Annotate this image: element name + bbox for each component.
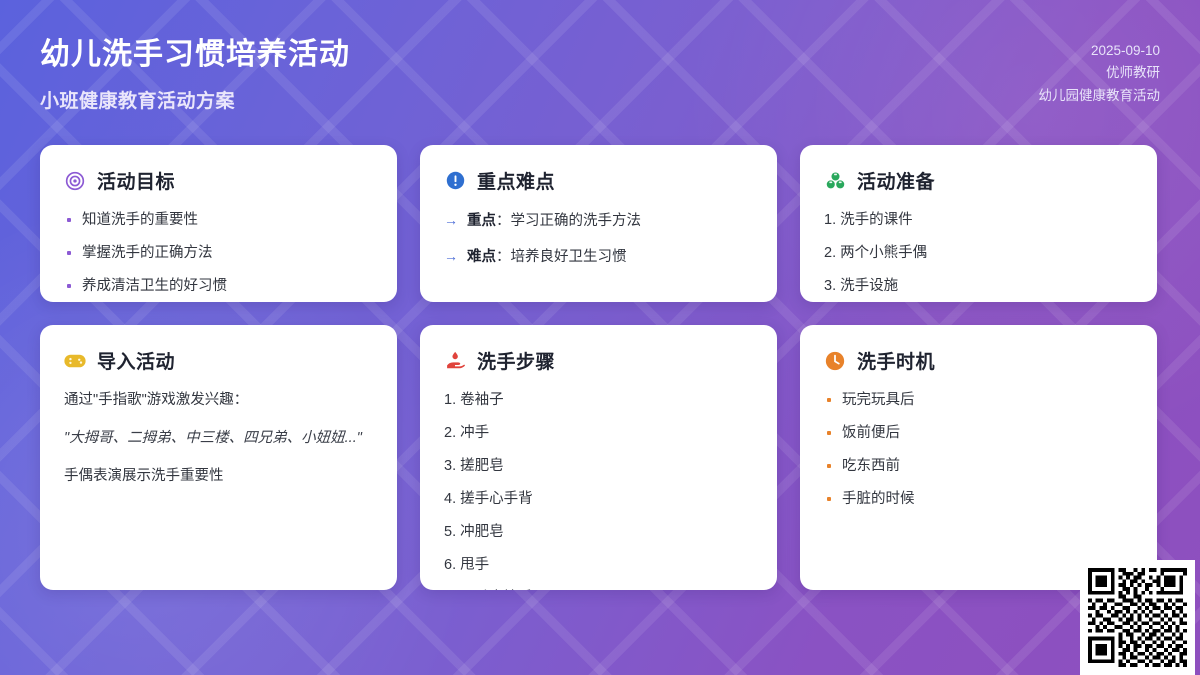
- list-item-value: 学习正确的洗手方法: [511, 213, 642, 229]
- list-item-label: 搓肥皂: [460, 458, 504, 474]
- list-item: 3. 洗手设施: [824, 276, 1133, 297]
- list-item-text: 重点：学习正确的洗手方法: [467, 211, 641, 232]
- list-item-number: 3.: [824, 278, 840, 294]
- list-item: 玩完玩具后: [824, 390, 1133, 411]
- card-title: 洗手时机: [857, 347, 935, 374]
- list-item: 4. 搓手心手背: [444, 489, 753, 510]
- card-header: 洗手步骤: [444, 347, 753, 374]
- header-meta: 2025-09-10 优师教研 幼儿园健康教育活动: [1039, 40, 1161, 107]
- card-header: 重点难点: [444, 167, 753, 194]
- list-item-label: 卷袖子: [460, 392, 504, 408]
- card-header: 活动目标: [64, 167, 373, 194]
- list-item-value: 培养良好卫生习惯: [511, 249, 627, 265]
- list-item-key: 重点: [467, 213, 496, 229]
- list-item-separator: ：: [496, 249, 511, 265]
- card-steps: 洗手步骤1. 卷袖子2. 冲手3. 搓肥皂4. 搓手心手背5. 冲肥皂6. 甩手…: [420, 325, 777, 590]
- list-item-number: 2.: [824, 245, 840, 261]
- card-header: 洗手时机: [824, 347, 1133, 374]
- list-item: 手脏的时候: [824, 489, 1133, 510]
- slide-canvas: 幼儿洗手习惯培养活动 小班健康教育活动方案 2025-09-10 优师教研 幼儿…: [0, 0, 1200, 675]
- list-item-text: 难点：培养良好卫生习惯: [467, 247, 627, 268]
- list-item: 1. 卷袖子: [444, 390, 753, 411]
- paragraph-text: 手偶表演展示洗手重要性: [64, 466, 373, 488]
- card-title: 导入活动: [97, 347, 175, 374]
- list-item-number: 3.: [444, 458, 460, 474]
- list-item-number: 1.: [824, 212, 840, 228]
- list-item-label: 冲手: [460, 425, 489, 441]
- list-item: 2. 冲手: [444, 423, 753, 444]
- list-item-number: 4.: [444, 491, 460, 507]
- gamepad-icon: [64, 350, 86, 372]
- card-preparation: 活动准备1. 洗手的课件2. 两个小熊手偶3. 洗手设施: [800, 145, 1157, 302]
- list-item-label: 搓手心手背: [460, 491, 533, 507]
- card-header: 导入活动: [64, 347, 373, 374]
- list-item: 7. 用毛巾擦手: [444, 588, 753, 590]
- list-item-label: 两个小熊手偶: [840, 245, 927, 261]
- qr-code-container[interactable]: [1080, 560, 1195, 675]
- list-item: 饭前便后: [824, 423, 1133, 444]
- slide-header: 幼儿洗手习惯培养活动 小班健康教育活动方案 2025-09-10 优师教研 幼儿…: [0, 0, 1200, 130]
- list-item-key: 难点: [467, 249, 496, 265]
- meta-org: 优师教研: [1039, 62, 1161, 84]
- card-arrow-list: →重点：学习正确的洗手方法→难点：培养良好卫生习惯: [444, 210, 753, 268]
- list-item: 5. 冲肥皂: [444, 522, 753, 543]
- wash-hands-icon: [444, 350, 466, 372]
- quote-text: "大拇哥、二拇弟、中三楼、四兄弟、小妞妞...": [64, 428, 373, 450]
- card-numbered-list: 1. 洗手的课件2. 两个小熊手偶3. 洗手设施: [824, 210, 1133, 297]
- card-timing: 洗手时机玩完玩具后饭前便后吃东西前手脏的时候: [800, 325, 1157, 590]
- card-title: 活动目标: [97, 167, 175, 194]
- list-item: 3. 搓肥皂: [444, 456, 753, 477]
- info-icon: [444, 170, 466, 192]
- list-item-label: 甩手: [460, 557, 489, 573]
- card-grid: 活动目标知道洗手的重要性掌握洗手的正确方法养成清洁卫生的好习惯 重点难点→重点：…: [40, 145, 1160, 590]
- list-item: 掌握洗手的正确方法: [64, 243, 373, 264]
- qr-code[interactable]: [1088, 568, 1187, 667]
- arrow-right-icon: →: [444, 246, 458, 266]
- card-title: 重点难点: [477, 167, 555, 194]
- meta-date: 2025-09-10: [1039, 40, 1161, 62]
- card-numbered-list: 1. 卷袖子2. 冲手3. 搓肥皂4. 搓手心手背5. 冲肥皂6. 甩手7. 用…: [444, 390, 753, 590]
- card-header: 活动准备: [824, 167, 1133, 194]
- page-title: 幼儿洗手习惯培养活动: [40, 38, 350, 73]
- card-introduction: 导入活动通过"手指歌"游戏激发兴趣："大拇哥、二拇弟、中三楼、四兄弟、小妞妞..…: [40, 325, 397, 590]
- card-paragraphs: 通过"手指歌"游戏激发兴趣："大拇哥、二拇弟、中三楼、四兄弟、小妞妞..."手偶…: [64, 390, 373, 487]
- list-item-number: 1.: [444, 392, 460, 408]
- meta-category: 幼儿园健康教育活动: [1039, 85, 1161, 107]
- list-item: 1. 洗手的课件: [824, 210, 1133, 231]
- list-item-number: 6.: [444, 557, 460, 573]
- card-key-points: 重点难点→重点：学习正确的洗手方法→难点：培养良好卫生习惯: [420, 145, 777, 302]
- list-item: 吃东西前: [824, 456, 1133, 477]
- list-item-label: 洗手的课件: [840, 212, 913, 228]
- list-item-number: 5.: [444, 524, 460, 540]
- blocks-icon: [824, 170, 846, 192]
- page-subtitle: 小班健康教育活动方案: [40, 86, 235, 113]
- card-objectives: 活动目标知道洗手的重要性掌握洗手的正确方法养成清洁卫生的好习惯: [40, 145, 397, 302]
- clock-icon: [824, 350, 846, 372]
- paragraph-text: 通过"手指歌"游戏激发兴趣：: [64, 390, 373, 412]
- list-item: →难点：培养良好卫生习惯: [444, 246, 753, 268]
- list-item: 知道洗手的重要性: [64, 210, 373, 231]
- card-title: 洗手步骤: [477, 347, 555, 374]
- card-bullet-list: 玩完玩具后饭前便后吃东西前手脏的时候: [824, 390, 1133, 510]
- target-icon: [64, 170, 86, 192]
- arrow-right-icon: →: [444, 210, 458, 230]
- list-item-label: 冲肥皂: [460, 524, 504, 540]
- list-item: 养成清洁卫生的好习惯: [64, 276, 373, 297]
- list-item: 6. 甩手: [444, 555, 753, 576]
- list-item: 2. 两个小熊手偶: [824, 243, 1133, 264]
- list-item-number: 2.: [444, 425, 460, 441]
- card-title: 活动准备: [857, 167, 935, 194]
- list-item: →重点：学习正确的洗手方法: [444, 210, 753, 232]
- list-item-label: 洗手设施: [840, 278, 898, 294]
- card-bullet-list: 知道洗手的重要性掌握洗手的正确方法养成清洁卫生的好习惯: [64, 210, 373, 297]
- list-item-separator: ：: [496, 213, 511, 229]
